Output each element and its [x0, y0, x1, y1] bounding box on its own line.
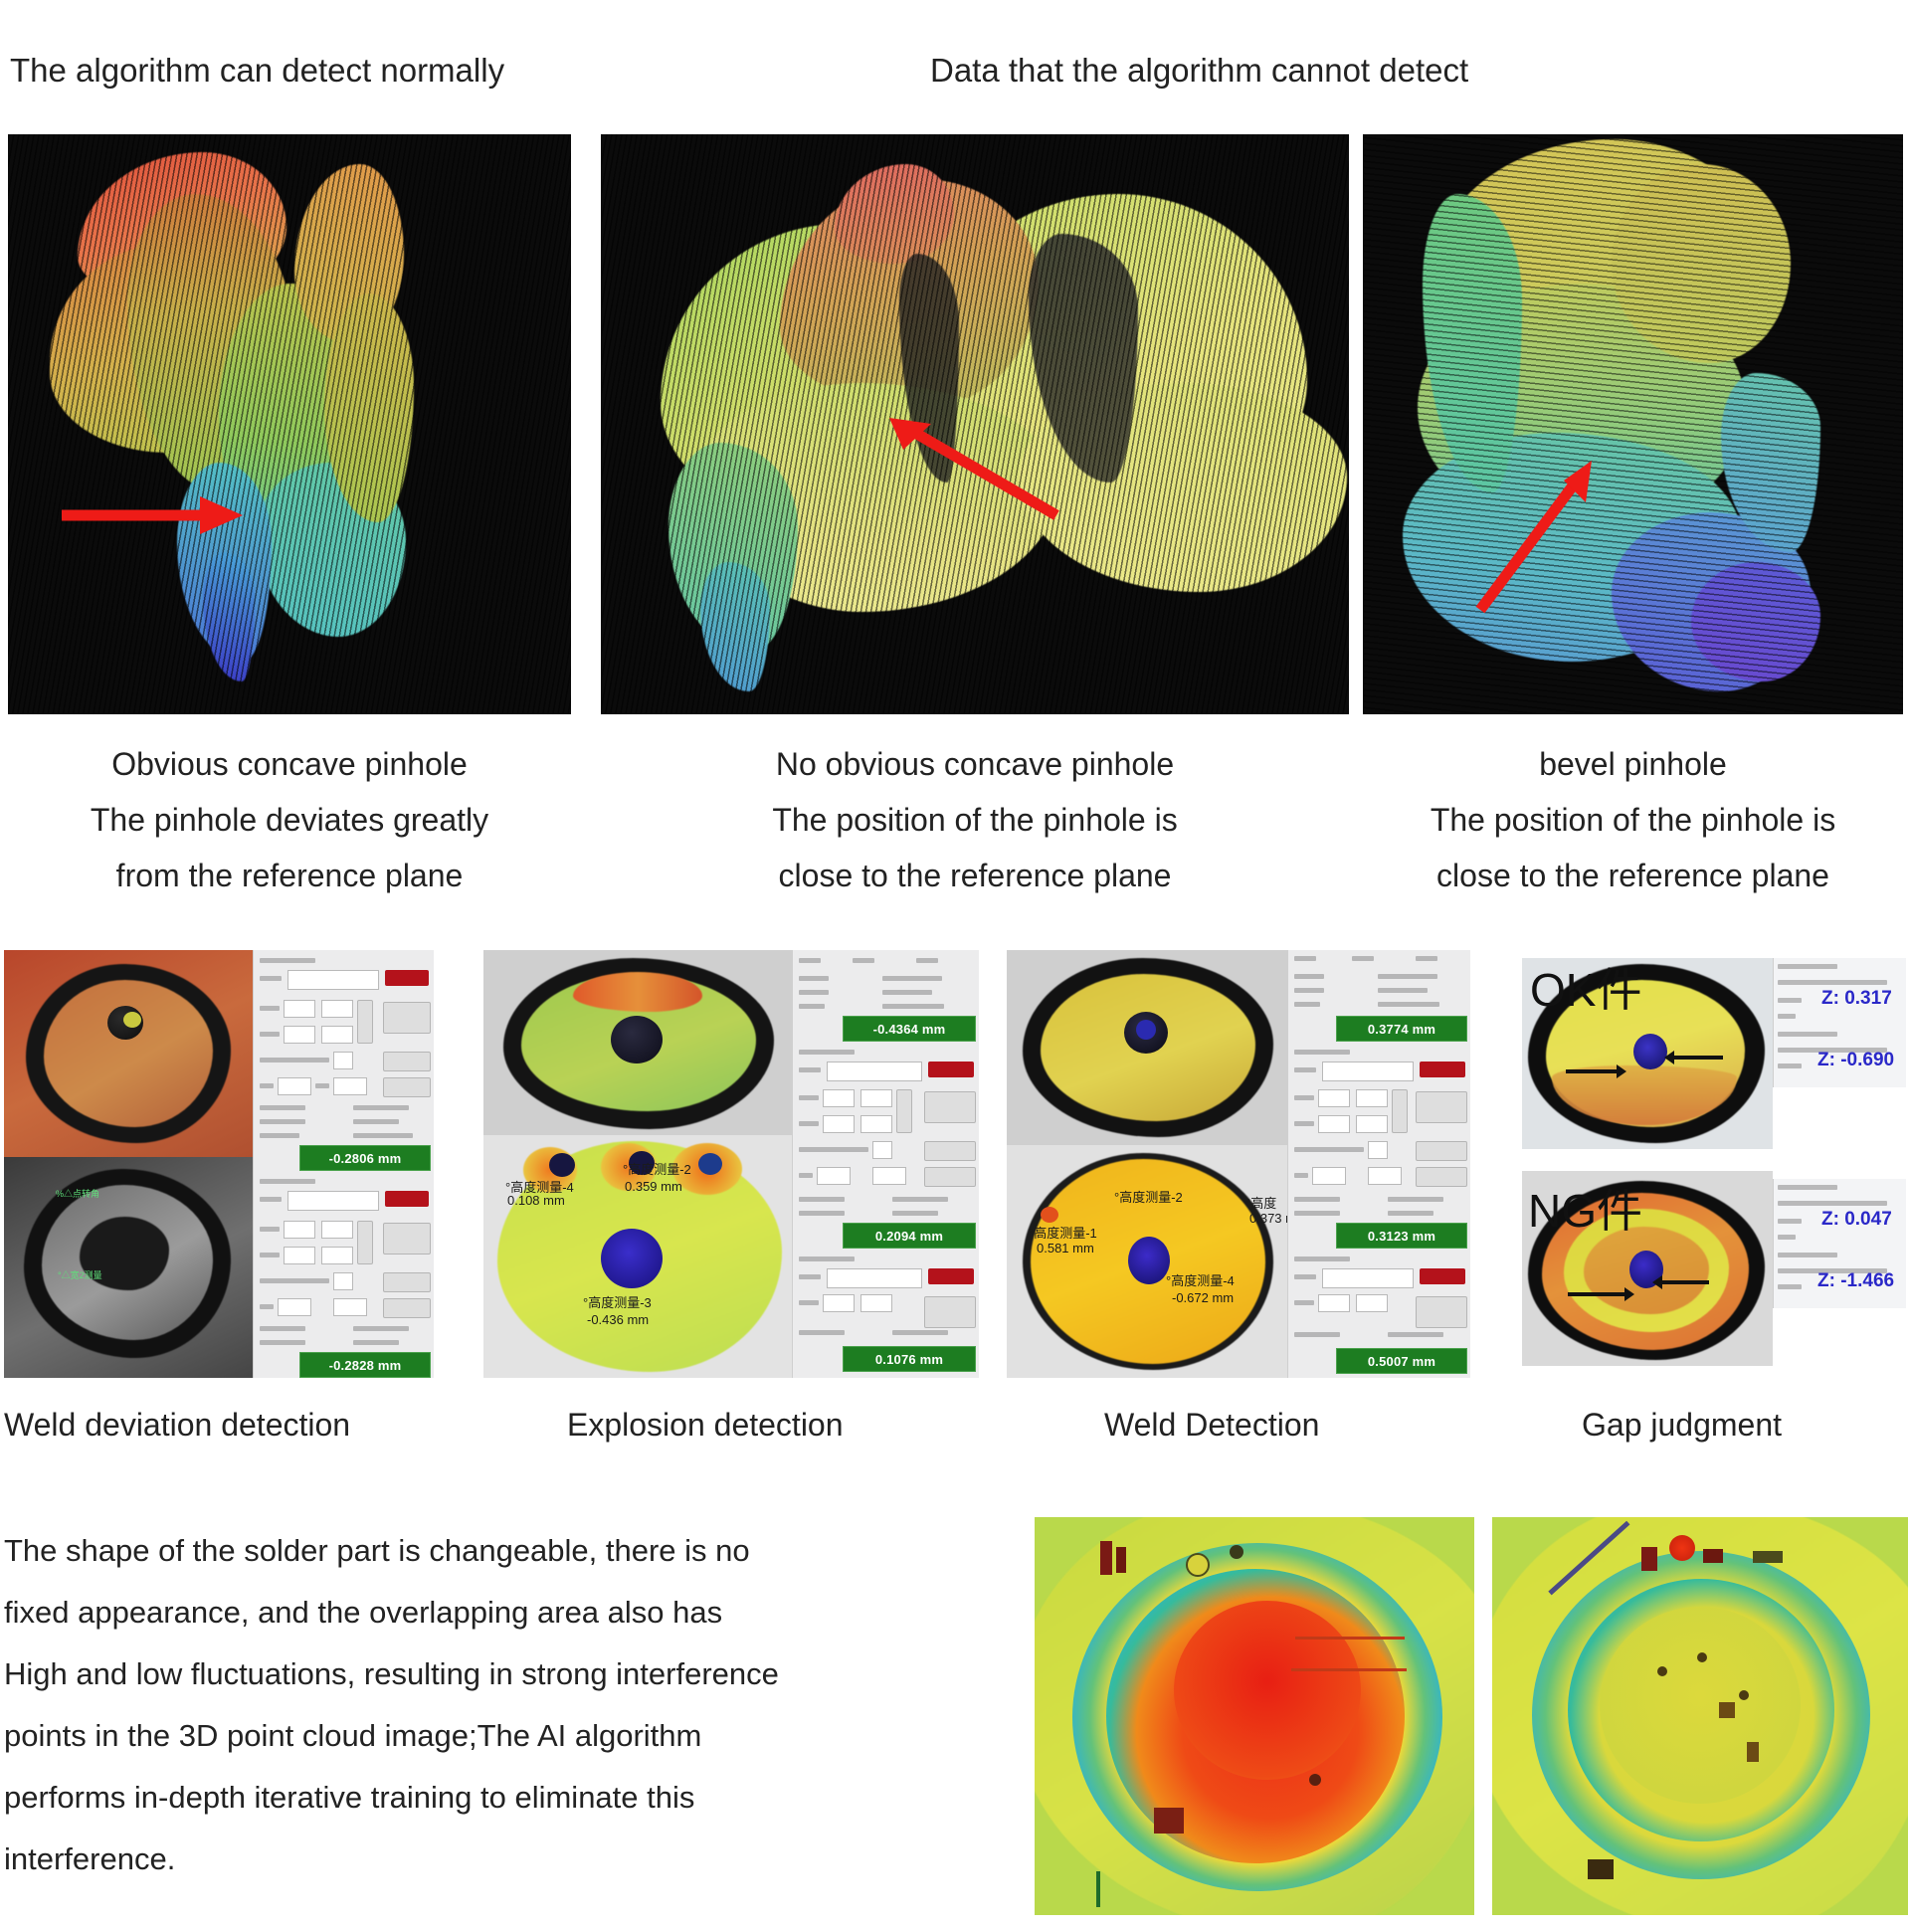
measurement-badge: 0.1076 mm [843, 1346, 976, 1372]
weld-overlay-text: °△宽2测量 [58, 1268, 102, 1281]
panel-button-11[interactable] [924, 1141, 976, 1161]
gap-ok-value-2: Z: -0.690 [1817, 1050, 1894, 1071]
status-badge-ng-3 [928, 1062, 974, 1077]
top-headings: The algorithm can detect normally Data t… [0, 48, 1910, 94]
caption-weld-detection: Weld Detection [1104, 1401, 1319, 1449]
caption-line: from the reference plane [8, 848, 571, 903]
measurement-panel-1[interactable]: -0.2806 mm -0.28 [253, 950, 434, 1378]
caption-gap-judgment: Gap judgment [1582, 1401, 1782, 1449]
panel-button-14[interactable] [1392, 1089, 1408, 1133]
measurement-badge: 0.3774 mm [1336, 1016, 1467, 1042]
explosion-image-bottom: °高度测量-4 0.108 mm °高度测量-2 0.359 mm °高度测量-… [483, 1135, 792, 1378]
panel-button-5[interactable] [357, 1221, 373, 1264]
paragraph-line: points in the 3D point cloud image;The A… [4, 1705, 1019, 1767]
pointcloud-captions: Obvious concave pinhole The pinhole devi… [0, 736, 1910, 875]
badge-value: 0.3123 mm [1368, 1229, 1435, 1244]
gap-ng-value-1: Z: 0.047 [1821, 1209, 1892, 1231]
pointcloud-render-1 [8, 134, 571, 714]
pointcloud-panel-obvious-concave-pinhole [8, 134, 571, 714]
panel-button-13[interactable] [924, 1296, 976, 1328]
caption-line: Obvious concave pinhole [8, 736, 571, 792]
measurement-badge: -0.2806 mm [299, 1145, 431, 1171]
weld-detection-annotation-4-value: -0.672 mm [1172, 1290, 1234, 1305]
weld-image-top [4, 950, 253, 1157]
gap-ok-readout[interactable]: Z: 0.317 Z: -0.690 [1773, 958, 1906, 1087]
screenshot-gap-judgment: OK件 Z: 0.317 Z: -0.690 NG件 [1522, 950, 1906, 1368]
measurement-panel-3[interactable]: 0.3774 mm 0.3123 [1287, 950, 1470, 1378]
gap-ng-image: NG件 [1522, 1171, 1773, 1366]
paragraph-line: The shape of the solder part is changeab… [4, 1520, 1019, 1582]
paragraph-line: interference. [4, 1829, 1019, 1890]
caption-weld-deviation-detection: Weld deviation detection [4, 1401, 350, 1449]
weld-detection-annotation-3-value: 0.373 mm [1249, 1211, 1287, 1226]
gap-ok-arrow-right [1673, 1056, 1723, 1060]
heightmap-right [1492, 1517, 1908, 1915]
paragraph-line: fixed appearance, and the overlapping ar… [4, 1582, 1019, 1643]
status-badge-ng-1 [385, 970, 429, 986]
paragraph-line: performs in-depth iterative training to … [4, 1767, 1019, 1829]
caption-obvious-concave-pinhole: Obvious concave pinhole The pinhole devi… [8, 736, 571, 903]
caption-no-obvious-concave-pinhole: No obvious concave pinhole The position … [601, 736, 1349, 903]
gap-ng-arrow-right [1661, 1280, 1709, 1284]
caption-line: No obvious concave pinhole [601, 736, 1349, 792]
panel-button-10[interactable] [924, 1091, 976, 1123]
weld-image-bottom: %△点转角 °△宽2测量 [4, 1157, 253, 1378]
heightmap-left [1035, 1517, 1474, 1915]
screenshot-row: %△点转角 °△宽2测量 [0, 950, 1910, 1378]
badge-value: 0.5007 mm [1368, 1354, 1435, 1369]
badge-value: 0.3774 mm [1368, 1022, 1435, 1037]
explosion-annotation-2: °高度测量-2 [623, 1159, 691, 1178]
gap-ng-readout[interactable]: Z: 0.047 Z: -1.466 [1773, 1179, 1906, 1308]
gap-ok-label: OK件 [1530, 958, 1641, 1020]
weld-detection-annotation-3: °高度 [1245, 1193, 1276, 1212]
caption-line: The pinhole deviates greatly [8, 792, 571, 848]
gap-ng-arrow-left [1568, 1292, 1625, 1296]
weld-detection-annotation-4: °高度测量-4 [1166, 1270, 1235, 1289]
status-badge-ng-4 [928, 1268, 974, 1284]
panel-button-12[interactable] [924, 1167, 976, 1187]
caption-line: close to the reference plane [1363, 848, 1903, 903]
gap-ok-arrow-left [1566, 1069, 1618, 1073]
badge-value: -0.2806 mm [329, 1151, 402, 1166]
measurement-badge: -0.2828 mm [299, 1352, 431, 1378]
panel-button-8[interactable] [383, 1298, 431, 1318]
weld-detection-annotation-1-value: 0.581 mm [1037, 1241, 1094, 1256]
badge-value: -0.4364 mm [873, 1022, 946, 1037]
description-paragraph: The shape of the solder part is changeab… [4, 1520, 1019, 1890]
pointcloud-render-3 [1363, 134, 1903, 714]
gap-ok-value-1: Z: 0.317 [1821, 988, 1892, 1010]
pointcloud-render-2 [601, 134, 1349, 714]
badge-value: 0.2094 mm [875, 1229, 943, 1244]
panel-button-4[interactable] [383, 1077, 431, 1097]
screenshot-weld-detection: °高度测量-1 0.581 mm °高度测量-2 °高度 0.373 mm °高… [1007, 950, 1470, 1378]
explosion-annotation-1-value: 0.108 mm [507, 1193, 565, 1208]
measurement-badge: 0.3123 mm [1336, 1223, 1467, 1249]
caption-explosion-detection: Explosion detection [567, 1401, 844, 1449]
caption-line: The position of the pinhole is [601, 792, 1349, 848]
heading-detectable: The algorithm can detect normally [10, 48, 504, 94]
caption-line: The position of the pinhole is [1363, 792, 1903, 848]
weld-detection-image-bottom: °高度测量-1 0.581 mm °高度测量-2 °高度 0.373 mm °高… [1007, 1145, 1287, 1378]
weld-detection-annotation-1: °高度测量-1 [1029, 1223, 1097, 1242]
pointcloud-panel-no-obvious-concave-pinhole [601, 134, 1349, 714]
gap-ng-label: NG件 [1528, 1175, 1642, 1241]
explosion-annotation-3-value: -0.436 mm [587, 1312, 649, 1327]
weld-overlay-text: %△点转角 [56, 1187, 99, 1200]
badge-value: 0.1076 mm [875, 1352, 943, 1367]
screenshot-captions: Weld deviation detection Explosion detec… [0, 1401, 1910, 1450]
panel-button-17[interactable] [1416, 1167, 1467, 1187]
panel-button-18[interactable] [1416, 1296, 1467, 1328]
heading-undetectable: Data that the algorithm cannot detect [930, 48, 1468, 94]
panel-button-6[interactable] [383, 1223, 431, 1255]
status-badge-ng-6 [1420, 1268, 1465, 1284]
panel-button-7[interactable] [383, 1272, 431, 1292]
panel-button-1[interactable] [357, 1000, 373, 1044]
pointcloud-panel-bevel-pinhole [1363, 134, 1903, 714]
weld-detection-annotation-2: °高度测量-2 [1114, 1187, 1183, 1206]
gap-ng-value-2: Z: -1.466 [1817, 1270, 1894, 1292]
gap-ok-image: OK件 [1522, 958, 1773, 1149]
caption-line: bevel pinhole [1363, 736, 1903, 792]
caption-line: close to the reference plane [601, 848, 1349, 903]
screenshot-weld-deviation-detection: %△点转角 °△宽2测量 [4, 950, 434, 1378]
panel-button-9[interactable] [896, 1089, 912, 1133]
caption-bevel-pinhole: bevel pinhole The position of the pinhol… [1363, 736, 1903, 903]
measurement-panel-2[interactable]: -0.4364 mm 0.2094 [792, 950, 979, 1378]
explosion-annotation-2-value: 0.359 mm [625, 1179, 682, 1194]
badge-value: -0.2828 mm [329, 1358, 402, 1373]
weld-detection-image-top [1007, 950, 1287, 1145]
explosion-image-top [483, 950, 792, 1135]
panel-button-16[interactable] [1416, 1141, 1467, 1161]
explosion-annotation-3: °高度测量-3 [583, 1292, 652, 1311]
screenshot-explosion-detection: °高度测量-4 0.108 mm °高度测量-2 0.359 mm °高度测量-… [483, 950, 979, 1378]
measurement-badge: 0.2094 mm [843, 1223, 976, 1249]
measurement-badge: -0.4364 mm [843, 1016, 976, 1042]
status-badge-ng-2 [385, 1191, 429, 1207]
panel-button-15[interactable] [1416, 1091, 1467, 1123]
measurement-badge: 0.5007 mm [1336, 1348, 1467, 1374]
paragraph-line: High and low fluctuations, resulting in … [4, 1643, 1019, 1705]
panel-button-2[interactable] [383, 1002, 431, 1034]
panel-button-3[interactable] [383, 1052, 431, 1071]
pointcloud-row [0, 134, 1910, 716]
status-badge-ng-5 [1420, 1062, 1465, 1077]
